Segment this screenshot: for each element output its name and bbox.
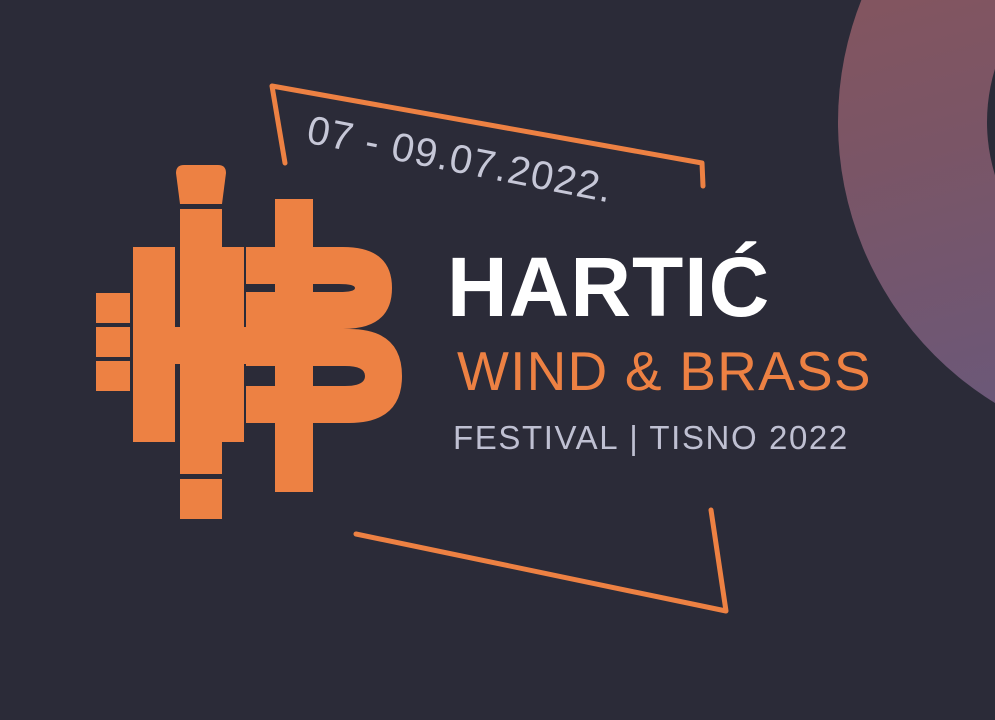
- b-upper-bowl: [246, 247, 392, 329]
- bottom-bracket-line: [356, 510, 726, 611]
- festival-wordmark: HARTIĆ WIND & BRASS FESTIVAL|TISNO 2022: [447, 248, 877, 454]
- festival-label: FESTIVAL: [453, 419, 619, 456]
- festival-poster: 07 - 09.07.2022.: [0, 0, 995, 720]
- valve-button-1: [96, 293, 130, 323]
- instrument-pipe-foot: [180, 479, 222, 519]
- b-lower-bowl: [246, 329, 402, 423]
- b-stem-top-tick: [275, 199, 313, 247]
- b-stem-bottom-tick: [275, 442, 313, 492]
- instrument-mouthpiece: [176, 165, 226, 204]
- wordmark-festival-line: FESTIVAL|TISNO 2022: [453, 421, 877, 454]
- festival-location-year: TISNO 2022: [649, 419, 848, 456]
- valve-button-3: [96, 361, 130, 391]
- instrument-pipe-body: [180, 209, 222, 474]
- valve-button-2: [96, 327, 130, 357]
- page-title: HARTIĆ: [447, 248, 877, 328]
- wordmark-subtitle: WIND & BRASS: [457, 344, 877, 399]
- festival-separator: |: [629, 419, 639, 456]
- hb-monogram-logo: [96, 162, 402, 522]
